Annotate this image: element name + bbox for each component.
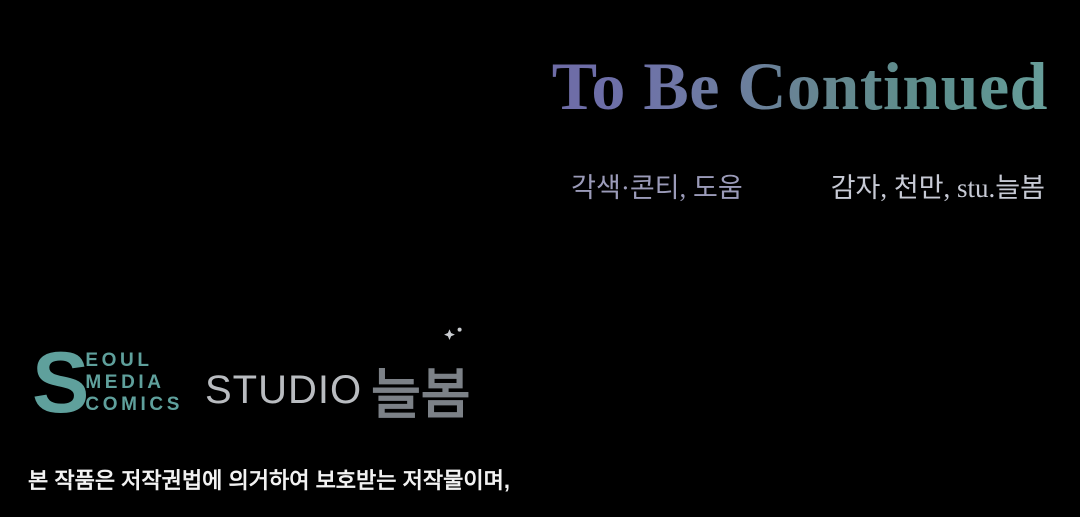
credits-row: 각색·콘티, 도움 감자, 천만, stu.늘봄 <box>0 172 1045 204</box>
copyright-notice: 본 작품은 저작권법에 의거하여 보호받는 저작물이며, 불법복제 및 무단 유… <box>28 434 510 517</box>
logo-line-comics: COMICS <box>85 395 183 414</box>
studio-neulbom-logo: STUDIO 늘봄 <box>205 344 471 418</box>
sparkle-icon <box>442 325 468 345</box>
studio-wordmark: STUDIO <box>205 370 362 410</box>
copyright-line-1: 본 작품은 저작권법에 의거하여 보호받는 저작물이며, <box>28 465 510 496</box>
publisher-logo-row: S EOUL MEDIA COMICS STUDIO 늘봄 <box>32 344 470 418</box>
to-be-continued-text: To Be Continued <box>552 52 1048 121</box>
credit-role-label: 각색·콘티, 도움 <box>571 172 743 204</box>
studio-korean-name: 늘봄 <box>371 368 470 422</box>
end-card-screen: To Be Continued 각색·콘티, 도움 감자, 천만, stu.늘봄… <box>0 0 1080 517</box>
to-be-continued-banner: To Be Continued <box>0 52 1048 121</box>
seoul-media-comics-logo: S EOUL MEDIA COMICS <box>32 344 187 418</box>
logo-line-media: MEDIA <box>85 373 183 392</box>
logo-line-eoul: EOUL <box>85 351 183 370</box>
seoul-media-comics-s-mark: S <box>32 348 87 419</box>
credit-names-value: 감자, 천만, stu.늘봄 <box>831 172 1045 204</box>
seoul-media-comics-wordmark: EOUL MEDIA COMICS <box>85 351 183 414</box>
